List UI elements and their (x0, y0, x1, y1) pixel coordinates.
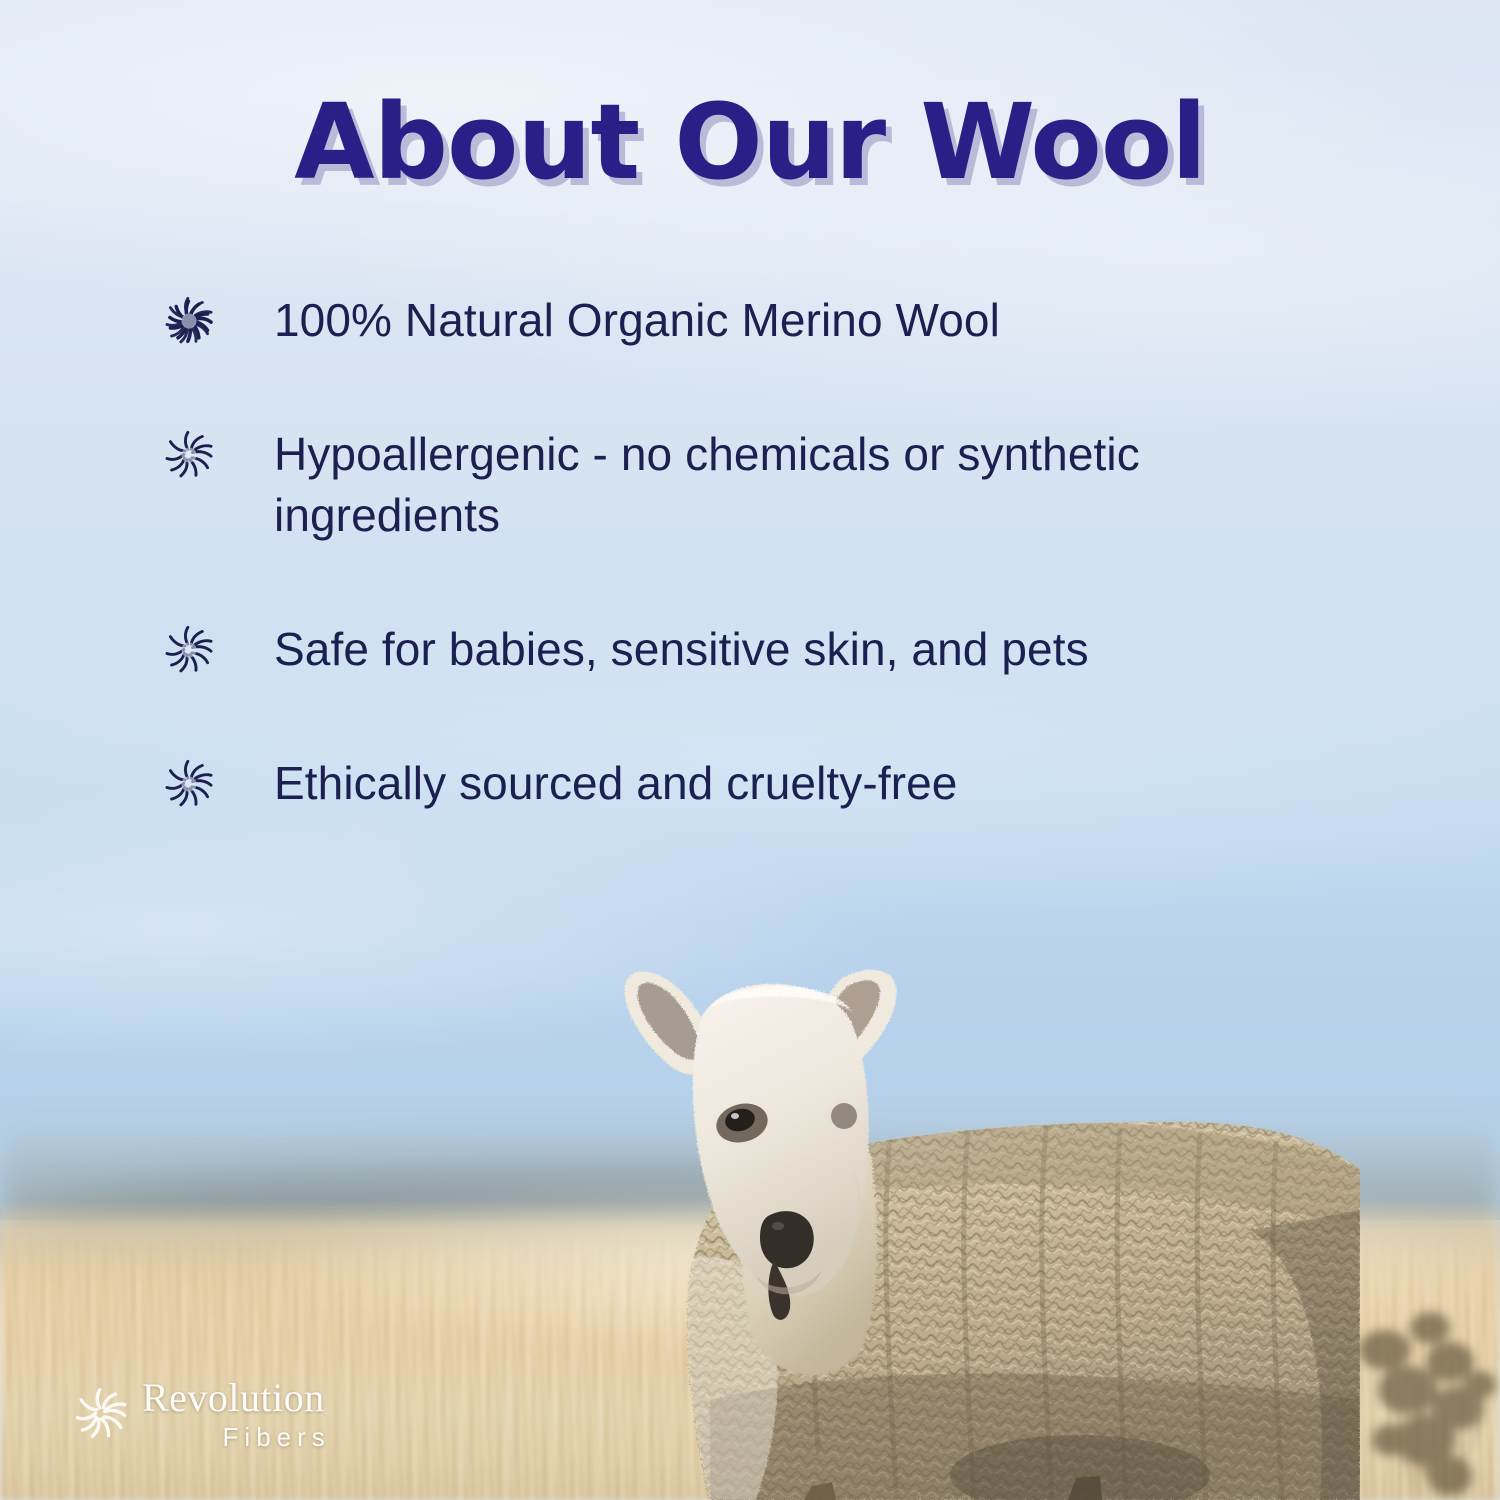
brand-logo: Revolution Fibers (70, 1378, 325, 1450)
list-item-label: Hypoallergenic - no chemicals or synthet… (274, 424, 1334, 547)
fiber-swirl-icon (160, 621, 218, 679)
sheep-eye-right (831, 1103, 857, 1129)
brand-wordmark: Revolution Fibers (142, 1378, 325, 1450)
list-item: 100% Natural Organic Merino Wool (160, 290, 1390, 352)
brand-name-primary: Revolution (142, 1378, 325, 1418)
brand-name-secondary: Fibers (223, 1424, 331, 1450)
list-item-label: 100% Natural Organic Merino Wool (274, 290, 1000, 352)
sheep-photo (560, 930, 1360, 1500)
wool-info-poster: About Our Wool (0, 0, 1500, 1500)
page-title: About Our Wool (0, 88, 1500, 197)
fiber-swirl-icon (160, 426, 218, 484)
fiber-swirl-icon (160, 755, 218, 813)
fiber-swirl-icon (70, 1383, 132, 1445)
list-item-label: Safe for babies, sensitive skin, and pet… (274, 619, 1089, 681)
list-item: Ethically sourced and cruelty-free (160, 753, 1390, 815)
fiber-swirl-icon (160, 292, 218, 350)
list-item: Hypoallergenic - no chemicals or synthet… (160, 424, 1390, 547)
feature-list: 100% Natural Organic Merino Wool (160, 290, 1390, 814)
list-item: Safe for babies, sensitive skin, and pet… (160, 619, 1390, 681)
list-item-label: Ethically sourced and cruelty-free (274, 753, 958, 815)
